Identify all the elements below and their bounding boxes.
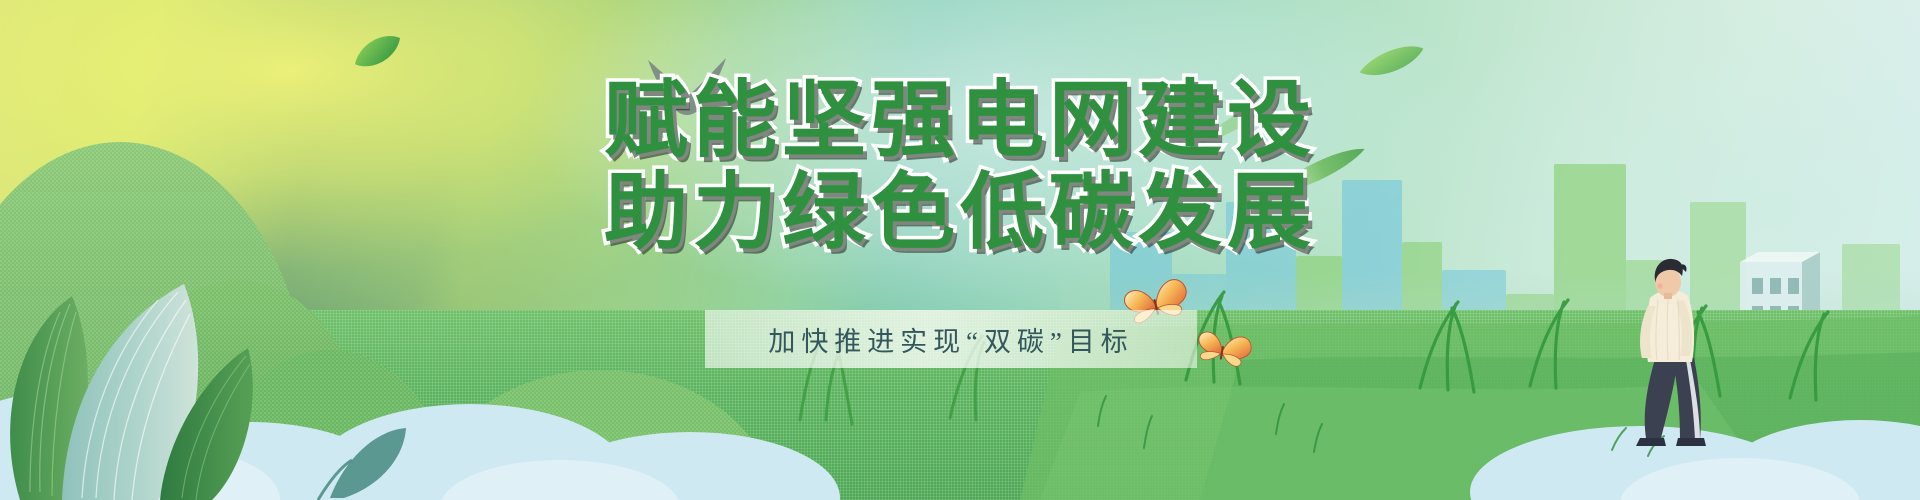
subtitle-box: 加快推进实现“双碳”目标 — [705, 310, 1197, 368]
title-line-1: 赋能坚强电网建设 — [0, 78, 1920, 162]
title-line-2: 助力绿色低碳发展 — [0, 170, 1920, 254]
subtitle-text: 加快推进实现“双碳”目标 — [768, 320, 1133, 359]
eco-grid-banner: 赋能坚强电网建设 助力绿色低碳发展 加快推进实现“双碳”目标 — [0, 0, 1920, 500]
butterfly-lower-icon — [1195, 330, 1253, 369]
